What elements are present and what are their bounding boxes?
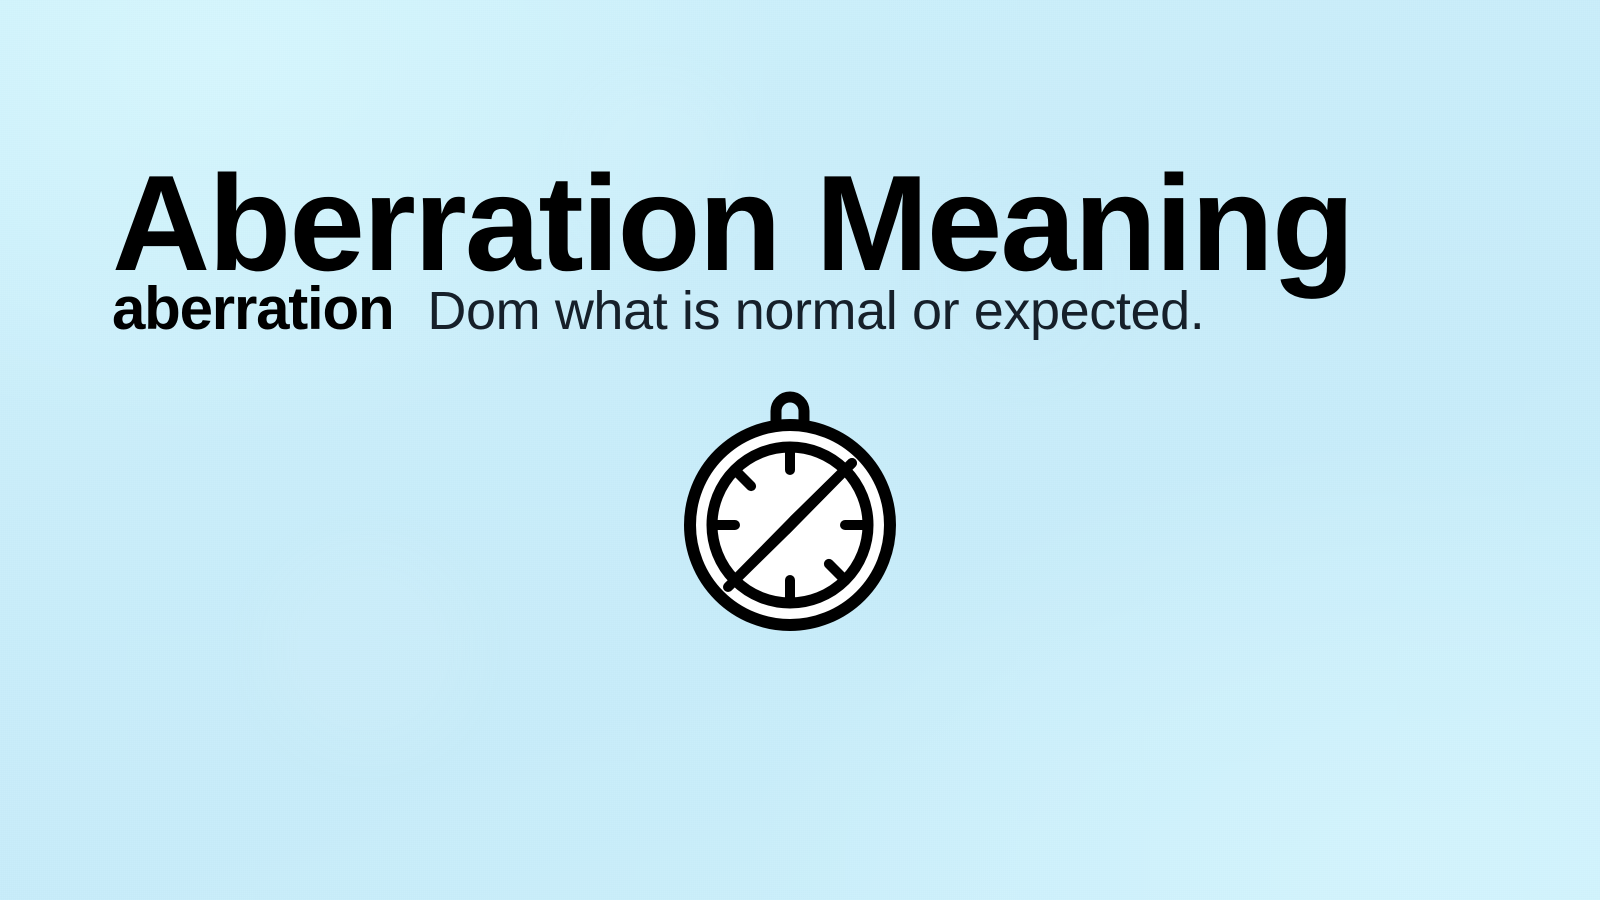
page-title: Aberration Meaning (112, 153, 1512, 293)
compass-icon (676, 386, 904, 642)
definition-text: Dom what is normal or expected. (427, 281, 1204, 341)
definition-line: aberrationDom what is normal or expected… (112, 277, 1532, 343)
slide-canvas: Aberration Meaning aberrationDom what is… (0, 0, 1600, 900)
definition-term: aberration (112, 275, 393, 342)
compass-illustration (676, 386, 904, 642)
compass-needle-crease (786, 520, 794, 530)
